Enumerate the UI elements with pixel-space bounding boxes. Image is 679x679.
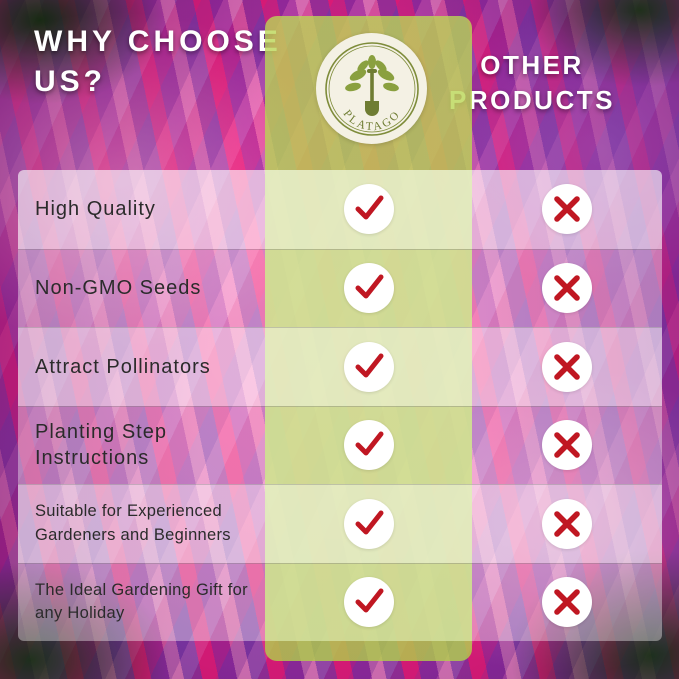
us-cell xyxy=(265,342,472,392)
us-cell xyxy=(265,263,472,313)
check-mark-icon xyxy=(344,184,394,234)
check-mark-icon xyxy=(344,342,394,392)
why-choose-us-title: WHY CHOOSE US? xyxy=(34,22,284,102)
table-row: Planting Step Instructions xyxy=(18,406,662,485)
feature-label: Suitable for Experienced Gardeners and B… xyxy=(18,500,265,547)
table-row: The Ideal Gardening Gift for any Holiday xyxy=(18,563,662,642)
feature-label: Non-GMO Seeds xyxy=(18,275,265,301)
cross-mark-icon xyxy=(542,420,592,470)
feature-label: Planting Step Instructions xyxy=(18,419,265,472)
other-cell xyxy=(472,184,662,234)
check-mark-icon xyxy=(344,420,394,470)
comparison-infographic: WHY CHOOSE US? OTHER PRODUCTS xyxy=(0,0,679,679)
us-cell xyxy=(265,184,472,234)
us-cell xyxy=(265,420,472,470)
cross-mark-icon xyxy=(542,184,592,234)
other-cell xyxy=(472,577,662,627)
feature-label: The Ideal Gardening Gift for any Holiday xyxy=(18,579,265,626)
platago-logo: PLATAGO xyxy=(316,33,427,144)
table-row: Non-GMO Seeds xyxy=(18,249,662,328)
other-cell xyxy=(472,420,662,470)
check-mark-icon xyxy=(344,577,394,627)
check-mark-icon xyxy=(344,263,394,313)
us-cell xyxy=(265,499,472,549)
other-cell xyxy=(472,342,662,392)
other-cell xyxy=(472,499,662,549)
check-mark-icon xyxy=(344,499,394,549)
us-cell xyxy=(265,577,472,627)
table-row: Suitable for Experienced Gardeners and B… xyxy=(18,484,662,563)
cross-mark-icon xyxy=(542,577,592,627)
table-row: High Quality xyxy=(18,170,662,249)
table-row: Attract Pollinators xyxy=(18,327,662,406)
other-cell xyxy=(472,263,662,313)
feature-label: High Quality xyxy=(18,196,265,222)
comparison-table: High Quality Non-GMO Seeds xyxy=(18,170,662,641)
cross-mark-icon xyxy=(542,342,592,392)
feature-label: Attract Pollinators xyxy=(18,354,265,380)
cross-mark-icon xyxy=(542,499,592,549)
cross-mark-icon xyxy=(542,263,592,313)
